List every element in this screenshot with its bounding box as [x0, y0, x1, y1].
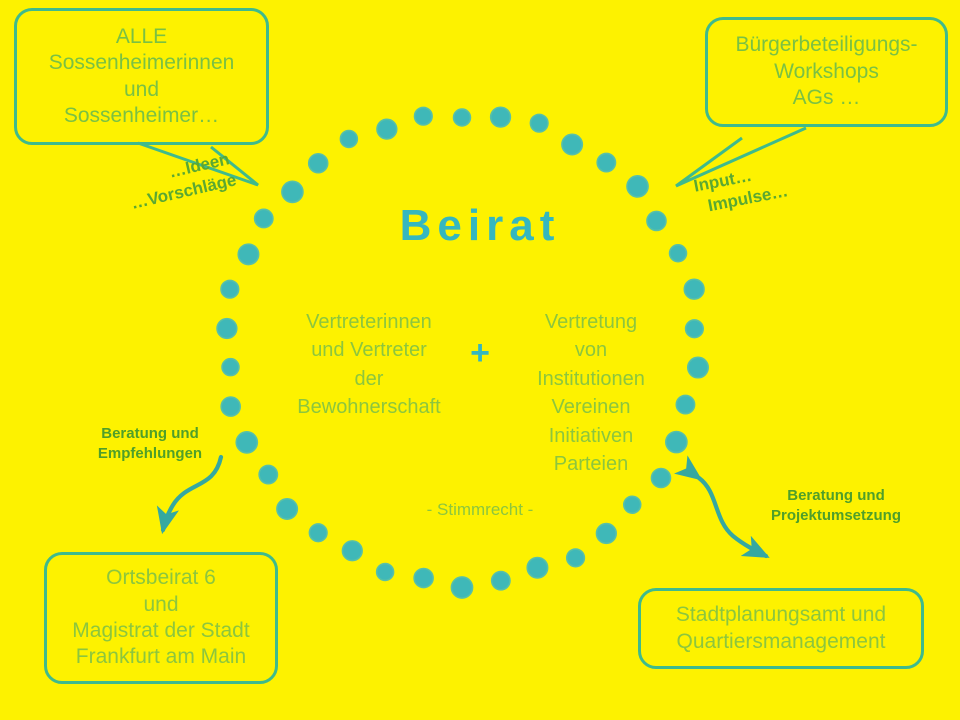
ring-dot — [222, 359, 239, 376]
core-right-line-1: Vertretung — [502, 308, 680, 336]
bubble-workshops[interactable]: Bürgerbeteiligungs- Workshops AGs … — [705, 17, 948, 127]
box-ortsbeirat-line-1: Ortsbeirat 6 — [106, 565, 216, 591]
annotation-beratung-empfehlungen-line-1: Beratung und — [101, 425, 199, 442]
ring-dot — [562, 134, 582, 154]
box-ortsbeirat[interactable]: Ortsbeirat 6 und Magistrat der Stadt Fra… — [44, 552, 278, 684]
ring-dot — [627, 176, 648, 197]
ring-dot — [221, 280, 239, 298]
ring-dot — [236, 432, 257, 453]
bubble-residents-line-4: Sossenheimer… — [64, 103, 219, 129]
core-left-line-2: und Vertreter — [280, 336, 458, 364]
ring-dot — [377, 564, 394, 581]
core-right-line-4: Vereinen — [502, 393, 680, 421]
ring-dot — [342, 541, 362, 561]
ring-dot — [377, 119, 397, 139]
ring-dot — [340, 131, 357, 148]
box-stadtplanung-line-1: Stadtplanungsamt und — [676, 602, 886, 628]
ring-dot — [309, 524, 327, 542]
ring-dot — [567, 549, 585, 567]
ring-dot — [530, 114, 548, 132]
ring-dot — [597, 153, 615, 171]
bubble-workshops-line-1: Bürgerbeteiligungs- — [735, 32, 917, 58]
core-left-line-1: Vertreterinnen — [280, 308, 458, 336]
ring-dot — [309, 154, 328, 173]
ring-dot — [454, 109, 471, 126]
ring-dot — [451, 577, 472, 598]
page-title: Beirat — [0, 201, 960, 251]
box-ortsbeirat-line-2: und — [143, 592, 178, 618]
annotation-beratung-empfehlungen-line-2: Empfehlungen — [98, 445, 202, 462]
core-composition: Vertreterinnen und Vertreter der Bewohne… — [258, 308, 702, 478]
plus-icon: + — [458, 308, 502, 370]
box-stadtplanung-line-2: Quartiersmanagement — [677, 629, 886, 655]
diagram-canvas: Beirat Vertreterinnen und Vertreter der … — [0, 0, 960, 720]
core-left-line-3: der — [280, 365, 458, 393]
bubble-workshops-line-2: Workshops — [774, 59, 879, 85]
core-right-line-3: Institutionen — [502, 365, 680, 393]
ring-dot — [527, 558, 547, 578]
annotation-beratung-empfehlungen: Beratung und Empfehlungen — [70, 424, 230, 465]
core-column-left: Vertreterinnen und Vertreter der Bewohne… — [280, 308, 458, 422]
ring-dot — [684, 279, 704, 299]
bubble-workshops-line-3: AGs … — [793, 85, 861, 111]
bubble-residents[interactable]: ALLE Sossenheimerinnen und Sossenheimer… — [14, 8, 269, 145]
ring-dot — [282, 181, 303, 202]
stimmrecht-note: - Stimmrecht - — [0, 500, 960, 520]
bubble-residents-line-2: Sossenheimerinnen — [49, 50, 235, 76]
ring-dot — [491, 107, 511, 127]
bubble-residents-line-3: und — [124, 77, 159, 103]
ring-dot — [596, 524, 616, 544]
box-ortsbeirat-line-4: Frankfurt am Main — [76, 644, 246, 670]
ring-dot — [414, 569, 433, 588]
core-right-line-5: Initiativen — [502, 422, 680, 450]
ring-dot — [217, 319, 237, 339]
box-ortsbeirat-line-3: Magistrat der Stadt — [72, 618, 249, 644]
ring-dot — [492, 572, 510, 590]
core-right-line-6: Parteien — [502, 450, 680, 478]
core-right-line-2: von — [502, 336, 680, 364]
core-column-right: Vertretung von Institutionen Vereinen In… — [502, 308, 680, 478]
ring-dot — [221, 397, 240, 416]
ring-dot — [415, 107, 433, 125]
core-left-line-4: Bewohnerschaft — [280, 393, 458, 421]
box-stadtplanungsamt[interactable]: Stadtplanungsamt und Quartiersmanagement — [638, 588, 924, 669]
bubble-residents-line-1: ALLE — [116, 24, 167, 50]
